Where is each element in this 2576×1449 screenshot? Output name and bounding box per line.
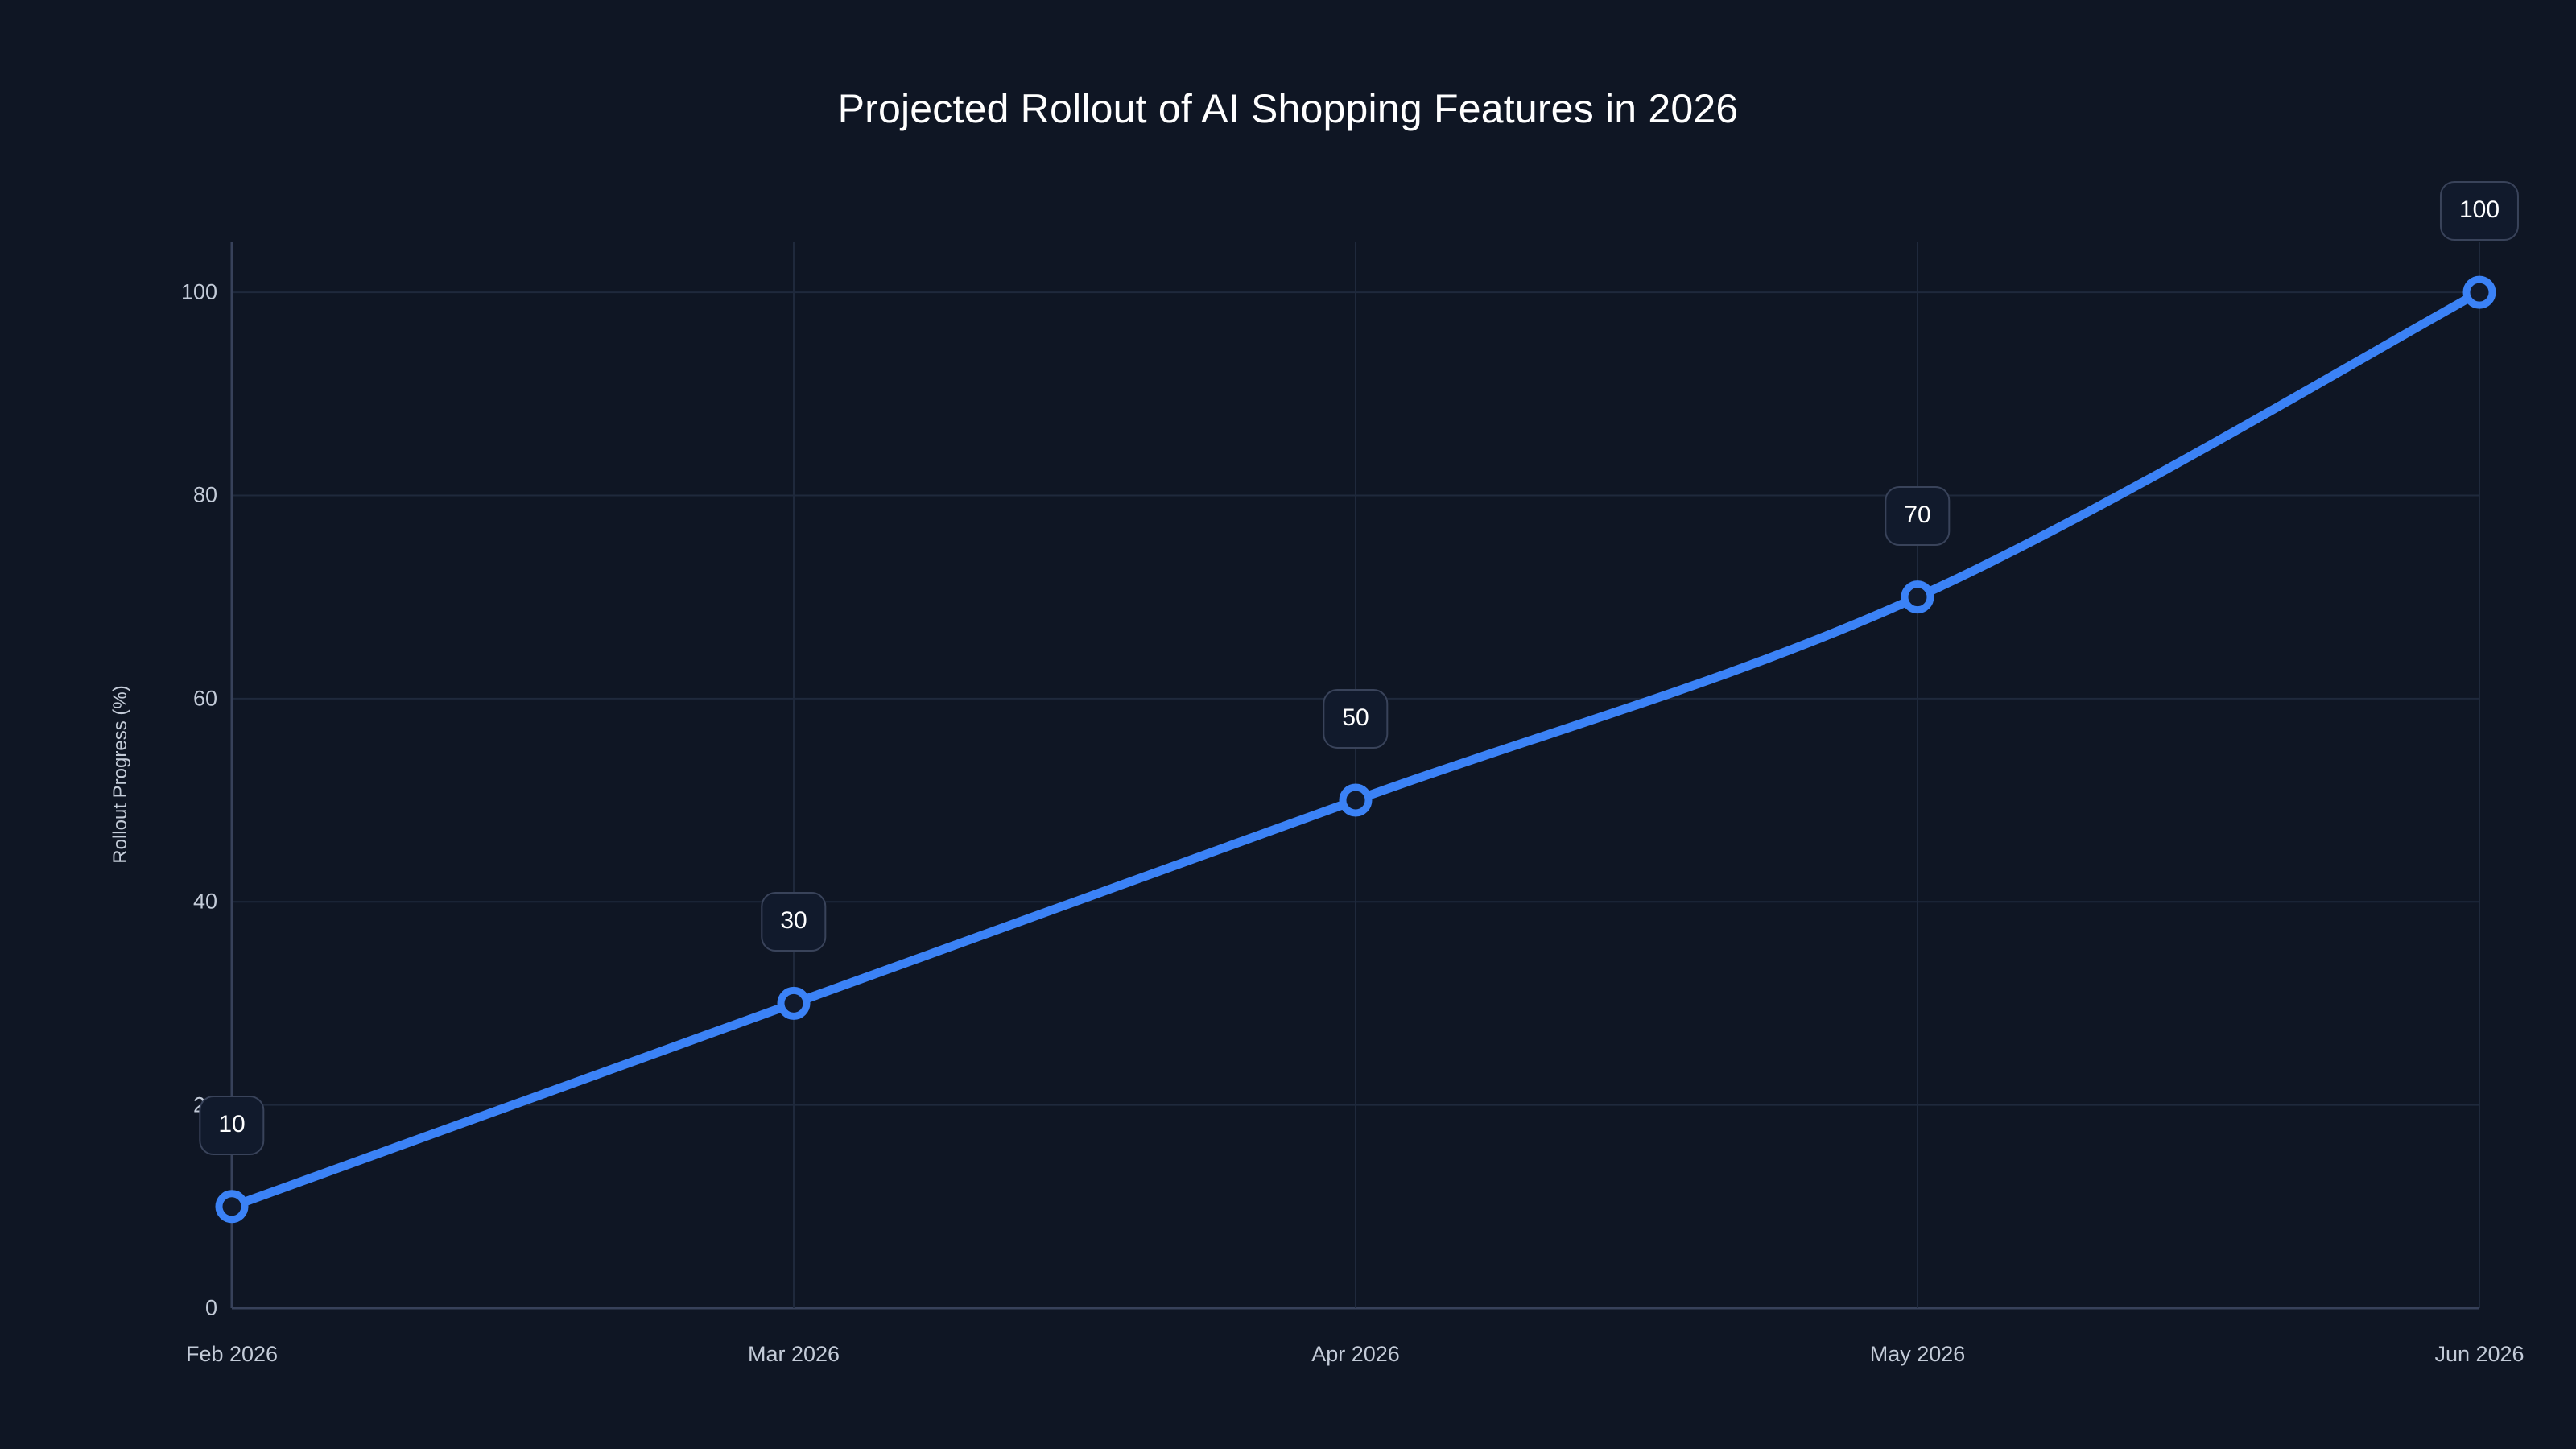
data-point-marker[interactable] bbox=[1343, 787, 1368, 813]
y-axis-tick-label: 0 bbox=[145, 1296, 217, 1321]
data-point-marker[interactable] bbox=[219, 1194, 245, 1220]
data-point-value-label: 30 bbox=[761, 892, 826, 952]
grid-lines bbox=[232, 242, 2479, 1308]
line-chart: Projected Rollout of AI Shopping Feature… bbox=[0, 0, 2576, 1449]
x-axis-tick-label: Feb 2026 bbox=[186, 1342, 278, 1367]
data-point-value-label: 50 bbox=[1323, 689, 1388, 749]
x-axis-tick-label: May 2026 bbox=[1870, 1342, 1966, 1367]
x-axis-tick-label: Jun 2026 bbox=[2434, 1342, 2524, 1367]
x-axis-tick-label: Apr 2026 bbox=[1311, 1342, 1400, 1367]
data-point-value-label: 100 bbox=[2440, 181, 2519, 241]
y-axis-tick-label: 40 bbox=[145, 890, 217, 914]
x-axis-tick-label: Mar 2026 bbox=[748, 1342, 840, 1367]
y-axis-tick-label: 80 bbox=[145, 483, 217, 508]
data-point-value-label: 70 bbox=[1885, 486, 1950, 546]
data-point-marker[interactable] bbox=[1905, 584, 1930, 610]
y-axis-tick-label: 60 bbox=[145, 686, 217, 711]
data-point-value-label: 10 bbox=[199, 1096, 264, 1155]
data-point-marker[interactable] bbox=[2467, 279, 2492, 305]
y-axis-tick-label: 100 bbox=[145, 280, 217, 305]
data-point-marker[interactable] bbox=[781, 990, 807, 1016]
plot-area bbox=[0, 0, 2576, 1449]
